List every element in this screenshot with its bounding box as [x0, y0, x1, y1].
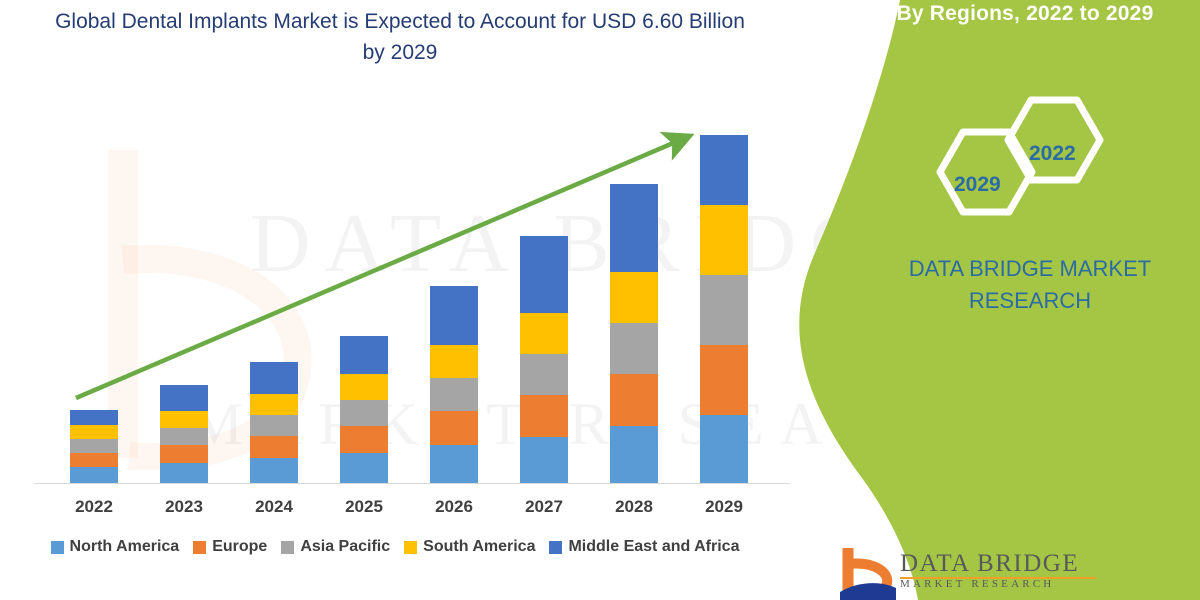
bar-segment[interactable] [520, 395, 568, 437]
bar-segment[interactable] [70, 425, 118, 439]
legend-swatch-icon [193, 541, 206, 554]
bar-column[interactable] [70, 410, 118, 483]
bar-segment[interactable] [520, 236, 568, 313]
bar-segment[interactable] [610, 272, 658, 323]
bar-segment[interactable] [160, 445, 208, 463]
bar-segment[interactable] [700, 205, 748, 275]
bar-segment[interactable] [340, 336, 388, 374]
bar-segment[interactable] [430, 378, 478, 411]
bar-segment[interactable] [250, 458, 298, 483]
bar-segment[interactable] [340, 374, 388, 400]
stacked-bar-chart [0, 0, 790, 495]
infographic-canvas: DATA BRIDGE MARKET RESEARCH By Regions, … [0, 0, 1200, 600]
bar-segment[interactable] [70, 410, 118, 425]
bar-segment[interactable] [160, 428, 208, 445]
bar-segment[interactable] [610, 374, 658, 426]
chart-legend: North AmericaEuropeAsia PacificSouth Ame… [0, 538, 790, 556]
x-axis-line [34, 483, 790, 484]
x-axis-label: 2029 [679, 497, 769, 517]
bar-segment[interactable] [700, 275, 748, 345]
bar-segment[interactable] [430, 345, 478, 378]
logo-b-icon [838, 548, 896, 600]
legend-label: South America [423, 538, 535, 556]
hexagon-badges: 2022 2029 [925, 92, 1115, 222]
bar-segment[interactable] [70, 467, 118, 483]
legend-item[interactable]: North America [51, 538, 180, 556]
x-axis-label: 2025 [319, 497, 409, 517]
logo-title: DATA BRIDGE [900, 550, 1079, 577]
bar-segment[interactable] [520, 437, 568, 483]
bar-column[interactable] [160, 385, 208, 483]
legend-label: North America [70, 538, 180, 556]
logo-text-block: DATA BRIDGE MARKET RESEARCH [900, 550, 1079, 592]
x-axis-label: 2028 [589, 497, 679, 517]
bar-segment[interactable] [340, 400, 388, 426]
legend-item[interactable]: South America [404, 538, 535, 556]
x-axis-labels: 20222023202420252026202720282029 [0, 497, 790, 525]
x-axis-label: 2027 [499, 497, 589, 517]
bar-segment[interactable] [160, 463, 208, 483]
bar-segment[interactable] [430, 411, 478, 445]
bar-segment[interactable] [70, 453, 118, 467]
bar-segment[interactable] [430, 286, 478, 345]
company-logo: DATA BRIDGE MARKET RESEARCH [838, 548, 1188, 600]
bar-segment[interactable] [250, 394, 298, 415]
legend-swatch-icon [51, 541, 64, 554]
bar-segment[interactable] [610, 323, 658, 374]
legend-swatch-icon [549, 541, 562, 554]
bar-segment[interactable] [250, 415, 298, 436]
bar-column[interactable] [430, 286, 478, 483]
bar-segment[interactable] [250, 436, 298, 458]
legend-item[interactable]: Middle East and Africa [549, 538, 739, 556]
bar-column[interactable] [610, 184, 658, 483]
bar-segment[interactable] [700, 415, 748, 483]
panel-title: By Regions, 2022 to 2029 [860, 2, 1190, 26]
bar-column[interactable] [340, 336, 388, 483]
x-axis-label: 2022 [49, 497, 139, 517]
x-axis-label: 2024 [229, 497, 319, 517]
legend-item[interactable]: Asia Pacific [281, 538, 390, 556]
logo-divider [900, 577, 1096, 579]
bar-segment[interactable] [340, 453, 388, 483]
hexagon-2022-shape [1008, 100, 1100, 180]
legend-swatch-icon [281, 541, 294, 554]
legend-swatch-icon [404, 541, 417, 554]
hexagon-2029-shape [940, 132, 1032, 212]
bar-segment[interactable] [340, 426, 388, 453]
bar-segment[interactable] [610, 426, 658, 483]
hexagon-outlines [925, 92, 1115, 222]
bar-segment[interactable] [610, 184, 658, 272]
bar-column[interactable] [250, 362, 298, 483]
bar-segment[interactable] [700, 345, 748, 415]
hexagon-label-end-year: 2029 [954, 173, 1001, 197]
bar-segment[interactable] [700, 135, 748, 205]
bar-column[interactable] [700, 135, 748, 483]
bar-segment[interactable] [70, 439, 118, 453]
legend-label: Asia Pacific [300, 538, 390, 556]
legend-label: Europe [212, 538, 267, 556]
bar-segment[interactable] [520, 313, 568, 354]
bar-segment[interactable] [160, 385, 208, 411]
logo-subtitle: MARKET RESEARCH [900, 577, 1079, 592]
x-axis-label: 2023 [139, 497, 229, 517]
bar-segment[interactable] [520, 354, 568, 395]
hexagon-label-start-year: 2022 [1029, 142, 1076, 166]
bar-segment[interactable] [250, 362, 298, 394]
legend-label: Middle East and Africa [568, 538, 739, 556]
legend-item[interactable]: Europe [193, 538, 267, 556]
bar-column[interactable] [520, 236, 568, 483]
bar-segment[interactable] [160, 411, 208, 428]
x-axis-label: 2026 [409, 497, 499, 517]
bar-segment[interactable] [430, 445, 478, 483]
brand-name: DATA BRIDGE MARKET RESEARCH [880, 253, 1180, 317]
